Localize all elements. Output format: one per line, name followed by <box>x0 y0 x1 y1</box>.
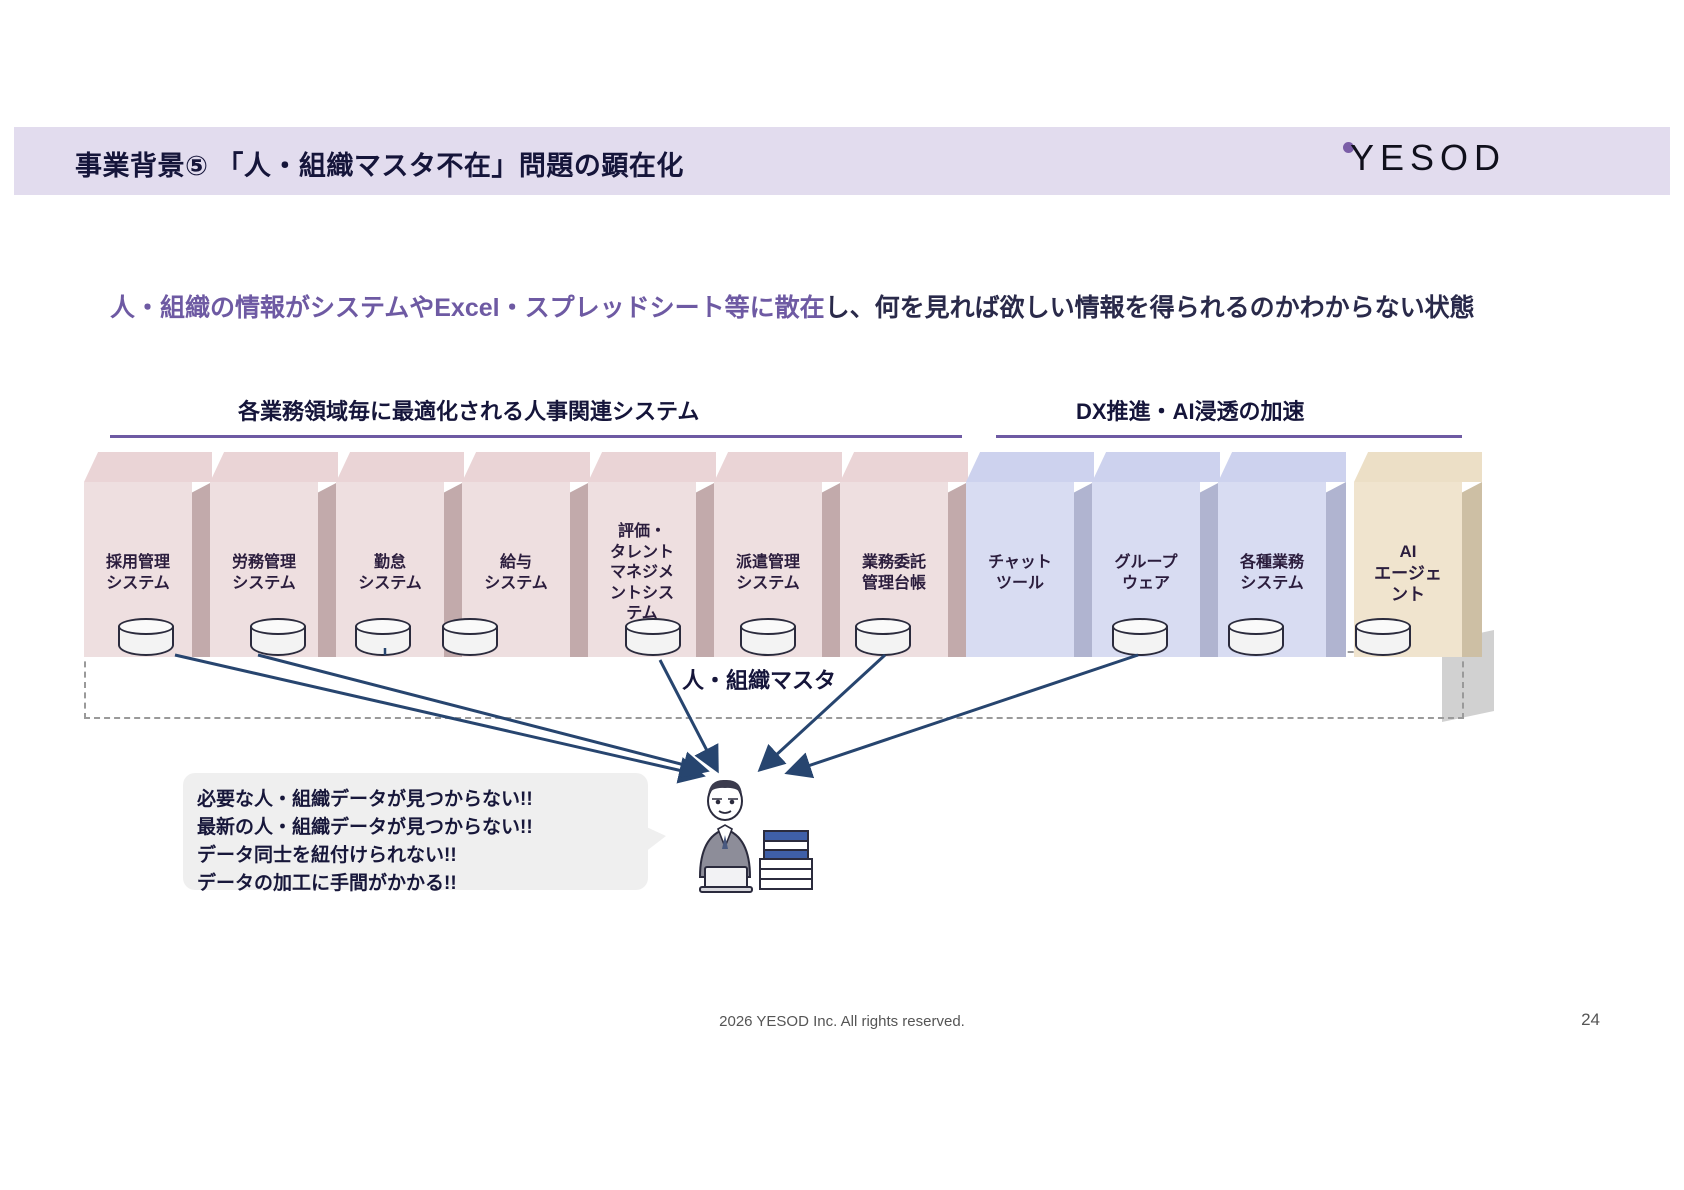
system-box-label: 勤怠 システム <box>355 553 425 594</box>
system-box-label: 各種業務 システム <box>1237 553 1307 594</box>
master-data-label: 人・組織マスタ <box>682 663 836 695</box>
system-box-top <box>966 452 1094 482</box>
system-box-top <box>84 452 212 482</box>
system-box-label: 給与 システム <box>481 553 551 594</box>
cylinder-top <box>250 618 306 635</box>
system-box-top <box>210 452 338 482</box>
database-cylinder-icon <box>1112 618 1170 662</box>
system-box-top <box>462 452 590 482</box>
system-box-label: 労務管理 システム <box>229 553 299 594</box>
system-box-side <box>570 482 590 657</box>
system-box-label: 採用管理 システム <box>103 553 173 594</box>
system-box-label: 評価・ タレント マネジメ ントシス テム <box>607 522 677 624</box>
system-box-face: チャット ツール <box>966 482 1074 657</box>
system-box-side <box>696 482 716 657</box>
system-box-top <box>1354 452 1482 482</box>
system-box-top <box>336 452 464 482</box>
group-rule-right <box>996 435 1462 438</box>
system-box-side <box>318 482 338 657</box>
group-title-right: DX推進・AI浸透の加速 <box>1076 394 1305 426</box>
lead-paragraph: 人・組織の情報がシステムやExcel・スプレッドシート等に散在し、何を見れば欲し… <box>110 290 1510 326</box>
database-cylinder-icon <box>855 618 913 662</box>
cylinder-top <box>442 618 498 635</box>
pain-points-list: 必要な人・組織データが見つからない!!最新の人・組織データが見つからない!!デー… <box>197 786 647 898</box>
system-box-side <box>1462 482 1482 657</box>
system-box-label: グループ ウェア <box>1111 553 1180 594</box>
system-box-top <box>1218 452 1346 482</box>
database-cylinder-icon <box>740 618 798 662</box>
cylinder-top <box>118 618 174 635</box>
system-box-side <box>192 482 212 657</box>
page-number: 24 <box>1581 1010 1600 1030</box>
yesod-logo: YESOD <box>1343 140 1506 176</box>
group-title-left: 各業務領域毎に最適化される人事関連システム <box>238 394 699 426</box>
cylinder-top <box>625 618 681 635</box>
system-box-top <box>714 452 842 482</box>
cylinder-top <box>355 618 411 635</box>
cylinder-top <box>1228 618 1284 635</box>
group-rule-left <box>110 435 962 438</box>
person-illustration <box>680 775 840 895</box>
database-cylinder-icon <box>118 618 176 662</box>
database-cylinder-icon <box>1228 618 1286 662</box>
system-box-top <box>840 452 968 482</box>
pain-point-line: 最新の人・組織データが見つからない!! <box>197 814 647 842</box>
system-box-side <box>822 482 842 657</box>
footer-copyright: 2026 YESOD Inc. All rights reserved. <box>0 1013 1684 1030</box>
system-box-top <box>1092 452 1220 482</box>
system-box-side <box>1200 482 1220 657</box>
database-cylinder-icon <box>625 618 683 662</box>
system-box-top <box>588 452 716 482</box>
database-cylinder-icon <box>442 618 500 662</box>
system-box: チャット ツール <box>966 452 1094 657</box>
logo-wordmark: YESOD <box>1350 140 1506 176</box>
cylinder-top <box>1112 618 1168 635</box>
lead-rest-text: し、何を見れば欲しい情報を得られるのかわからない状態 <box>825 294 1475 322</box>
cylinder-top <box>1355 618 1411 635</box>
system-box-label: AI エージェ ント <box>1371 541 1445 606</box>
database-cylinder-icon <box>1355 618 1413 662</box>
lead-accent-text: 人・組織の情報がシステムやExcel・スプレッドシート等に散在 <box>110 294 825 322</box>
system-box-label: チャット ツール <box>985 553 1055 594</box>
system-box-label: 派遣管理 システム <box>733 553 803 594</box>
database-cylinder-icon <box>355 618 413 662</box>
cylinder-top <box>740 618 796 635</box>
system-box-side <box>1074 482 1094 657</box>
database-cylinder-icon <box>250 618 308 662</box>
page-title: 事業背景⑤ 「人・組織マスタ不在」問題の顕在化 <box>75 144 684 183</box>
system-box-label: 業務委託 管理台帳 <box>859 553 929 594</box>
pain-point-line: データ同士を紐付けられない!! <box>197 842 647 870</box>
system-box-side <box>948 482 968 657</box>
system-box-side <box>1326 482 1346 657</box>
pain-point-line: 必要な人・組織データが見つからない!! <box>197 786 647 814</box>
pain-point-line: データの加工に手間がかかる!! <box>197 870 647 898</box>
cylinder-top <box>855 618 911 635</box>
